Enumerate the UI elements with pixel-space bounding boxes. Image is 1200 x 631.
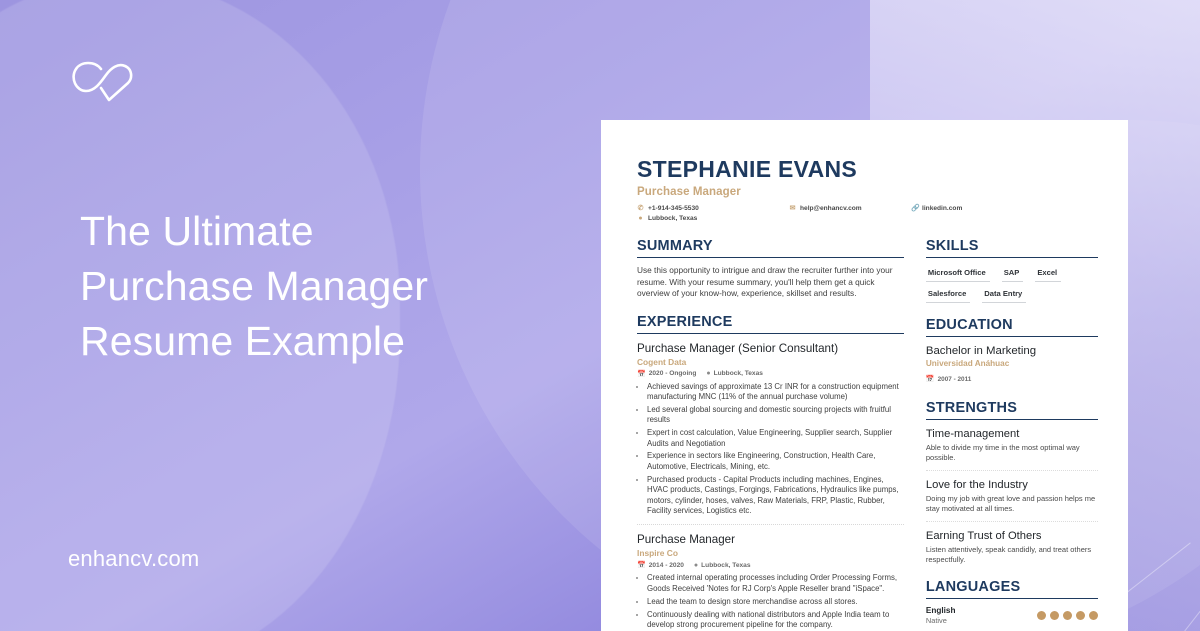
proficiency-dot — [1050, 611, 1059, 620]
strength-item: Earning Trust of Others Listen attentive… — [926, 521, 1098, 565]
strength-item: Time-management Able to divide my time i… — [926, 420, 1098, 463]
strength-description: Listen attentively, speak candidly, and … — [926, 545, 1098, 565]
website-url[interactable]: enhancv.com — [68, 546, 199, 572]
contact-details: ✆ +1-914-345-5530 ● Lubbock, Texas ✉ hel… — [637, 205, 1098, 222]
language-name: English — [926, 606, 956, 615]
skills-list: Microsoft Office SAP Excel Salesforce Da… — [926, 267, 1098, 303]
skills-heading: SKILLS — [926, 238, 1098, 258]
job-bullet: Led several global sourcing and domestic… — [647, 405, 904, 426]
contact-linkedin-value: linkedin.com — [922, 205, 962, 212]
headline-line-2: Purchase Manager — [80, 259, 560, 314]
summary-text: Use this opportunity to intrigue and dra… — [637, 265, 904, 300]
education-dates-value: 2007 - 2011 — [938, 376, 972, 383]
education-heading: EDUCATION — [926, 317, 1098, 337]
contact-phone: ✆ +1-914-345-5530 — [637, 205, 789, 212]
contact-phone-value: +1-914-345-5530 — [648, 205, 699, 212]
job-bullet: Lead the team to design store merchandis… — [647, 597, 904, 607]
email-icon: ✉ — [789, 205, 796, 212]
language-item: English Native — [926, 606, 1098, 625]
education-dates: 📅 2007 - 2011 — [926, 375, 971, 383]
job-company: Inspire Co — [637, 548, 904, 558]
job-bullet: Purchased products - Capital Products in… — [647, 475, 904, 517]
job-meta: 📅2014 - 2020 ●Lubbock, Texas — [637, 561, 904, 569]
job-title: Purchase Manager — [637, 533, 904, 547]
job-bullet: Expert in cost calculation, Value Engine… — [647, 428, 904, 449]
language-level: Native — [926, 616, 956, 625]
location-pin-icon: ● — [637, 215, 644, 222]
job-bullet: Continuously dealing with national distr… — [647, 610, 904, 631]
headline-line-3: Resume Example — [80, 314, 560, 369]
job-dates: 2020 - Ongoing — [649, 370, 697, 377]
proficiency-dot — [1037, 611, 1046, 620]
education-school: Universidad Anáhuac — [926, 359, 1098, 368]
resume-document: STEPHANIE EVANS Purchase Manager ✆ +1-91… — [601, 120, 1128, 631]
contact-email[interactable]: ✉ help@enhancv.com — [789, 205, 911, 212]
job-bullets: Achieved savings of approximate 13 Cr IN… — [647, 382, 904, 517]
strength-description: Doing my job with great love and passion… — [926, 494, 1098, 514]
languages-heading: LANGUAGES — [926, 579, 1098, 599]
job-company: Cogent Data — [637, 357, 904, 367]
skill-tag: SAP — [1002, 267, 1024, 282]
skills-section: SKILLS Microsoft Office SAP Excel Salesf… — [926, 238, 1098, 303]
job-bullet: Experience in sectors like Engineering, … — [647, 451, 904, 472]
contact-linkedin[interactable]: 🔗 linkedin.com — [911, 205, 962, 212]
strengths-section: STRENGTHS Time-management Able to divide… — [926, 400, 1098, 565]
proficiency-dot — [1063, 611, 1072, 620]
education-degree: Bachelor in Marketing — [926, 344, 1098, 358]
summary-heading: SUMMARY — [637, 238, 904, 258]
calendar-icon: 📅 — [637, 370, 646, 378]
location-pin-icon: ● — [706, 370, 710, 377]
strength-item: Love for the Industry Doing my job with … — [926, 470, 1098, 514]
promo-headline: The Ultimate Purchase Manager Resume Exa… — [80, 204, 560, 369]
calendar-icon: 📅 — [637, 561, 646, 569]
calendar-icon: 📅 — [926, 375, 935, 383]
link-icon: 🔗 — [911, 205, 918, 212]
job-bullet: Achieved savings of approximate 13 Cr IN… — [647, 382, 904, 403]
resume-side-column: SKILLS Microsoft Office SAP Excel Salesf… — [926, 238, 1098, 631]
language-proficiency-dots — [1037, 606, 1098, 620]
proficiency-dot — [1076, 611, 1085, 620]
strength-title: Love for the Industry — [926, 478, 1098, 492]
enhancv-infinity-heart-logo-icon[interactable] — [68, 58, 138, 104]
resume-candidate-name: STEPHANIE EVANS — [637, 156, 1098, 182]
contact-location: ● Lubbock, Texas — [637, 215, 789, 222]
education-section: EDUCATION Bachelor in Marketing Universi… — [926, 317, 1098, 386]
strength-title: Earning Trust of Others — [926, 529, 1098, 543]
resume-main-column: SUMMARY Use this opportunity to intrigue… — [637, 238, 904, 631]
phone-icon: ✆ — [637, 205, 644, 212]
contact-email-value: help@enhancv.com — [800, 205, 862, 212]
skill-tag: Excel — [1035, 267, 1061, 282]
skill-tag: Salesforce — [926, 288, 970, 303]
job-location: Lubbock, Texas — [701, 562, 750, 569]
experience-heading: EXPERIENCE — [637, 314, 904, 334]
contact-location-value: Lubbock, Texas — [648, 215, 697, 222]
job-bullets: Created internal operating processes inc… — [647, 573, 904, 631]
headline-line-1: The Ultimate — [80, 204, 560, 259]
skill-tag: Data Entry — [982, 288, 1026, 303]
job-location: Lubbock, Texas — [714, 370, 763, 377]
languages-section: LANGUAGES English Native — [926, 579, 1098, 625]
summary-section: SUMMARY Use this opportunity to intrigue… — [637, 238, 904, 300]
location-pin-icon: ● — [694, 562, 698, 569]
proficiency-dot — [1089, 611, 1098, 620]
resume-job-title: Purchase Manager — [637, 186, 1098, 198]
promo-panel: The Ultimate Purchase Manager Resume Exa… — [0, 0, 600, 631]
strengths-heading: STRENGTHS — [926, 400, 1098, 420]
promo-banner: The Ultimate Purchase Manager Resume Exa… — [0, 0, 1200, 631]
job-title: Purchase Manager (Senior Consultant) — [637, 342, 904, 356]
education-item: Bachelor in Marketing Universidad Anáhua… — [926, 344, 1098, 386]
job-bullet: Created internal operating processes inc… — [647, 573, 904, 594]
job-dates: 2014 - 2020 — [649, 562, 684, 569]
job-meta: 📅2020 - Ongoing ●Lubbock, Texas — [637, 370, 904, 378]
strength-title: Time-management — [926, 427, 1098, 441]
skill-tag: Microsoft Office — [926, 267, 990, 282]
experience-section: EXPERIENCE Purchase Manager (Senior Cons… — [637, 314, 904, 631]
experience-item: Purchase Manager (Senior Consultant) Cog… — [637, 334, 904, 517]
strength-description: Able to divide my time in the most optim… — [926, 443, 1098, 463]
experience-item: Purchase Manager Inspire Co 📅2014 - 2020… — [637, 524, 904, 631]
